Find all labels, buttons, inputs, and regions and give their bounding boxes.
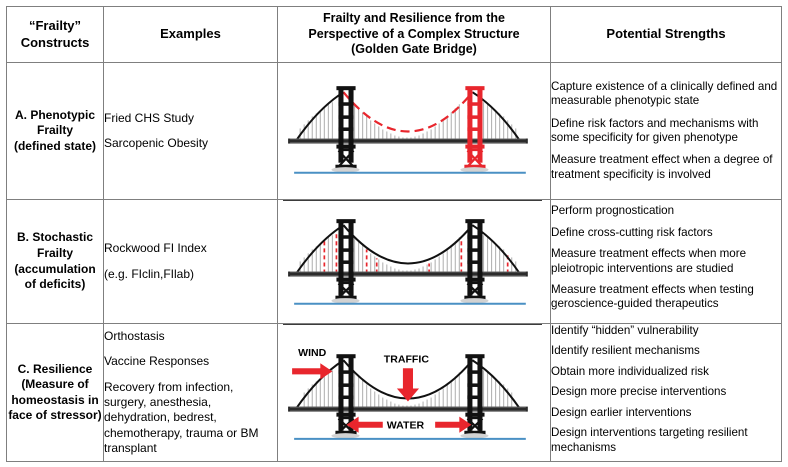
bridge-figure-phenotypic	[278, 66, 550, 197]
example-item: Recovery from infection, surgery, anesth…	[104, 380, 277, 457]
bridge-figure-resilience: WIND TRAFFIC	[278, 326, 550, 459]
strength-item: Obtain more individualized risk	[551, 365, 781, 379]
construct-b-line2: Frailty	[37, 246, 73, 260]
construct-cell-c: C. Resilience (Measure of homeostasis in…	[7, 324, 104, 462]
strengths-cell-c: Identify “hidden” vulnerability Identify…	[551, 324, 782, 462]
strength-item: Design earlier interventions	[551, 406, 781, 420]
table-row: C. Resilience (Measure of homeostasis in…	[7, 324, 782, 462]
example-item: Orthostasis	[104, 329, 277, 344]
examples-cell-c: Orthostasis Vaccine Responses Recovery f…	[104, 324, 278, 462]
strengths-cell-b: Perform prognostication Define cross-cut…	[551, 200, 782, 324]
bridge-svg-stochastic	[278, 201, 550, 322]
strengths-cell-a: Capture existence of a clinically define…	[551, 63, 782, 200]
header-examples: Examples	[104, 7, 278, 63]
header-bridge-line3: (Golden Gate Bridge)	[351, 42, 477, 56]
table-row: A. Phenotypic Frailty (defined state) Fr…	[7, 63, 782, 200]
strength-item: Design interventions targeting resilient…	[551, 426, 781, 455]
tower-right-black	[460, 219, 488, 303]
construct-cell-a: A. Phenotypic Frailty (defined state)	[7, 63, 104, 200]
bridge-figure-stochastic	[278, 201, 550, 322]
traffic-label: TRAFFIC	[384, 353, 430, 365]
strength-item: Perform prognostication	[551, 204, 781, 218]
construct-cell-b: B. Stochastic Frailty (accumulation of d…	[7, 200, 104, 324]
construct-b-line4: of deficits)	[25, 277, 86, 291]
bridge-illustration-c: WIND TRAFFIC	[278, 324, 551, 462]
example-item: Vaccine Responses	[104, 354, 277, 369]
strength-item: Measure treatment effects when testing g…	[551, 283, 781, 312]
tower-left-black	[331, 86, 359, 172]
header-bridge-line2: Perspective of a Complex Structure	[308, 27, 519, 41]
strength-item: Define risk factors and mechanisms with …	[551, 117, 781, 146]
strength-item: Define cross-cutting risk factors	[551, 226, 781, 240]
table-header-row: “Frailty” Constructs Examples Frailty an…	[7, 7, 782, 63]
strength-item: Capture existence of a clinically define…	[551, 80, 781, 109]
header-frailty-constructs: “Frailty” Constructs	[7, 7, 104, 63]
construct-c-line3: homeostasis in	[11, 393, 98, 407]
example-item: Sarcopenic Obesity	[104, 136, 277, 151]
strength-item: Measure treatment effects when more plei…	[551, 247, 781, 276]
construct-a-line2: Frailty	[37, 123, 73, 137]
row-separator-line	[283, 324, 542, 325]
strength-item: Design more precise interventions	[551, 385, 781, 399]
header-bridge-line1: Frailty and Resilience from the	[323, 11, 505, 25]
bridge-illustration-a	[278, 63, 551, 200]
tower-right-red	[460, 86, 488, 172]
strength-item: Measure treatment effect when a degree o…	[551, 153, 781, 182]
traffic-arrow-icon	[397, 369, 419, 402]
wind-label: WIND	[298, 347, 327, 359]
construct-a-line1: A. Phenotypic	[15, 108, 95, 122]
bridge-svg-resilience: WIND TRAFFIC	[278, 326, 550, 459]
construct-b-line3: (accumulation	[14, 262, 95, 276]
example-item: Fried CHS Study	[104, 111, 277, 126]
header-frailty-constructs-line2: Constructs	[21, 35, 90, 50]
examples-cell-b: Rockwood FI Index (e.g. FIclin,FIlab)	[104, 200, 278, 324]
header-potential-strengths: Potential Strengths	[551, 7, 782, 63]
construct-c-line1: C. Resilience	[18, 362, 93, 376]
examples-cell-a: Fried CHS Study Sarcopenic Obesity	[104, 63, 278, 200]
strength-item: Identify resilient mechanisms	[551, 344, 781, 358]
water-label: WATER	[387, 420, 425, 432]
bridge-svg-phenotypic	[278, 66, 550, 197]
wind-arrow-icon	[292, 363, 332, 379]
strength-item: Identify “hidden” vulnerability	[551, 324, 781, 338]
header-bridge-perspective: Frailty and Resilience from the Perspect…	[278, 7, 551, 63]
frailty-constructs-table: “Frailty” Constructs Examples Frailty an…	[6, 6, 782, 462]
example-item: Rockwood FI Index	[104, 241, 277, 256]
bridge-illustration-b	[278, 200, 551, 324]
construct-a-line3: (defined state)	[14, 139, 96, 153]
frailty-figure: “Frailty” Constructs Examples Frailty an…	[0, 0, 788, 467]
construct-b-line1: B. Stochastic	[17, 230, 93, 244]
table-row: B. Stochastic Frailty (accumulation of d…	[7, 200, 782, 324]
header-frailty-constructs-line1: “Frailty”	[29, 18, 81, 33]
water-arrow-right-icon	[435, 417, 471, 433]
construct-c-line2: (Measure of	[21, 377, 88, 391]
construct-c-line4: face of stressor)	[8, 408, 101, 422]
example-item: (e.g. FIclin,FIlab)	[104, 267, 277, 282]
